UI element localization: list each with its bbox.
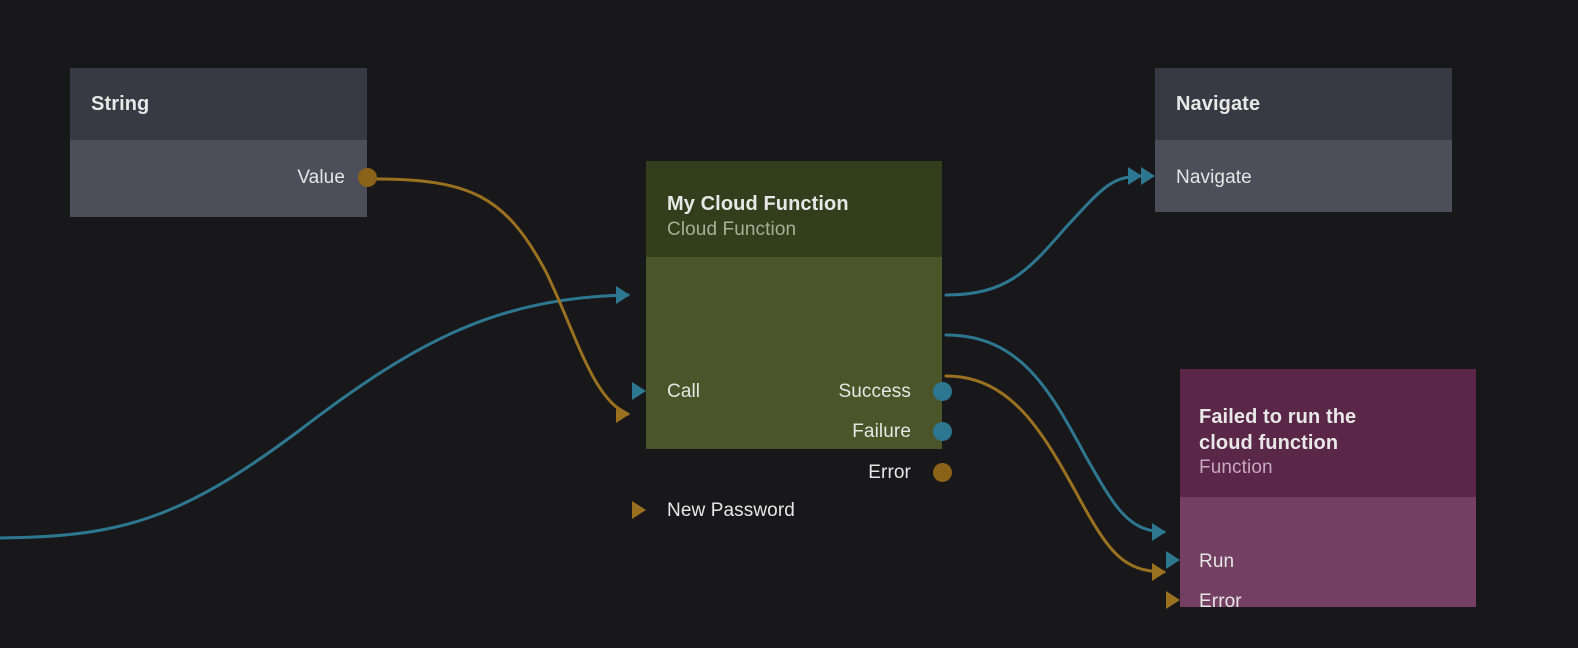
port-failed-run[interactable]: Run — [1199, 552, 1234, 571]
port-string-value-label: Value — [297, 168, 345, 187]
port-failed-error-label: Error — [1199, 592, 1242, 611]
edge-string-value-to-new-password[interactable] — [374, 179, 628, 414]
node-cloud-function-body: Call New Password Success Failure Error — [646, 257, 942, 449]
port-dot-cloudfn-success[interactable] — [933, 382, 952, 401]
node-failed-function-title-line-1: Failed to run the — [1199, 405, 1476, 430]
port-cloudfn-error[interactable]: Error — [868, 463, 911, 482]
edge-cloudfn-success-to-navigate[interactable] — [946, 176, 1140, 295]
port-failed-error[interactable]: Error — [1199, 592, 1242, 611]
node-cloud-function-title: My Cloud Function — [667, 191, 942, 217]
node-failed-function[interactable]: Failed to run the cloud function Functio… — [1180, 369, 1476, 607]
port-cloudfn-error-label: Error — [868, 463, 911, 482]
node-cloud-function[interactable]: My Cloud Function Cloud Function Call Ne… — [646, 161, 942, 449]
port-arrow-failed-error[interactable] — [1166, 591, 1180, 609]
node-failed-function-body: Run Error — [1180, 497, 1476, 607]
edge-cloudfn-error-to-error[interactable] — [946, 376, 1164, 572]
node-failed-function-title-line-2: cloud function — [1199, 431, 1476, 456]
port-dot-cloudfn-failure[interactable] — [933, 422, 952, 441]
port-dot-string-value[interactable] — [358, 168, 377, 187]
edge-arrowhead-string-value-to-new-password — [616, 405, 630, 423]
edge-offscreen-to-cloudfn-call[interactable] — [0, 295, 628, 538]
node-string-header[interactable]: String — [70, 68, 367, 140]
node-cloud-function-subtitle: Cloud Function — [667, 218, 942, 243]
port-cloudfn-success-label: Success — [838, 382, 911, 401]
port-cloudfn-failure-label: Failure — [852, 422, 911, 441]
node-navigate[interactable]: Navigate Navigate — [1155, 68, 1452, 212]
port-cloudfn-new-password[interactable]: New Password — [667, 501, 795, 520]
port-arrow-failed-run[interactable] — [1166, 551, 1180, 569]
port-navigate-input[interactable]: Navigate — [1176, 168, 1252, 187]
port-cloudfn-failure[interactable]: Failure — [852, 422, 911, 441]
edge-cloudfn-failure-to-run[interactable] — [946, 335, 1164, 532]
port-dot-cloudfn-error[interactable] — [933, 463, 952, 482]
node-graph-canvas[interactable]: String Value My Cloud Function Cloud Fun… — [0, 0, 1578, 648]
edge-arrowhead-offscreen-to-cloudfn-call — [616, 286, 630, 304]
port-cloudfn-success[interactable]: Success — [838, 382, 911, 401]
port-arrow-cloudfn-new-password[interactable] — [632, 501, 646, 519]
port-arrow-cloudfn-call[interactable] — [632, 382, 646, 400]
port-string-value[interactable]: Value — [297, 168, 345, 187]
port-failed-run-label: Run — [1199, 552, 1234, 571]
edge-arrowhead-cloudfn-success-to-navigate — [1128, 167, 1142, 185]
port-arrow-navigate-input[interactable] — [1141, 167, 1155, 185]
edge-arrowhead-cloudfn-error-to-error — [1152, 563, 1166, 581]
node-string[interactable]: String Value — [70, 68, 367, 217]
node-string-body: Value — [70, 140, 367, 217]
node-navigate-header[interactable]: Navigate — [1155, 68, 1452, 140]
node-failed-function-header[interactable]: Failed to run the cloud function Functio… — [1180, 369, 1476, 497]
port-navigate-input-label: Navigate — [1176, 168, 1252, 187]
node-string-title: String — [91, 91, 367, 117]
node-navigate-title: Navigate — [1176, 91, 1452, 117]
node-cloud-function-header[interactable]: My Cloud Function Cloud Function — [646, 161, 942, 257]
node-failed-function-subtitle: Function — [1199, 456, 1476, 481]
port-cloudfn-call[interactable]: Call — [667, 382, 700, 401]
edge-arrowhead-cloudfn-failure-to-run — [1152, 523, 1166, 541]
port-cloudfn-call-label: Call — [667, 382, 700, 401]
node-navigate-body: Navigate — [1155, 140, 1452, 212]
port-cloudfn-new-password-label: New Password — [667, 501, 795, 520]
